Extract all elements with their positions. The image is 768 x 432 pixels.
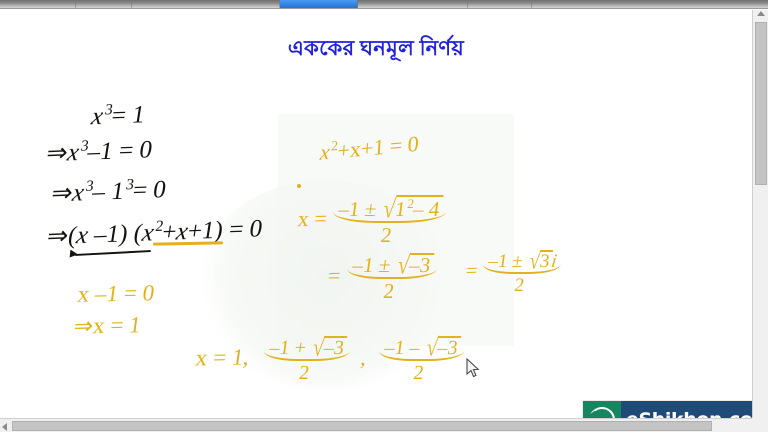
vertical-scrollbar[interactable] <box>752 10 768 418</box>
equation-imaginary-form: = –1 ± √3i 2 <box>466 250 560 295</box>
toolbar-group-file[interactable] <box>0 0 76 8</box>
eshikhon-e-icon <box>583 401 621 418</box>
page-title: এককের ঘনমূল নির্ণয় <box>0 32 752 67</box>
underline-factor-x-minus-1 <box>75 250 151 256</box>
equation-linear-factor-zero: x –1 = 0 <box>78 282 154 305</box>
horizontal-scroll-thumb[interactable] <box>12 421 712 431</box>
equation-quadratic-formula: x = –1 ± √12– 4 2 <box>298 195 445 246</box>
eshikhon-logo: eShikhon.com eShikhon.com <box>583 401 752 418</box>
scrollbar-corner <box>752 418 768 432</box>
equation-x-cubed-minus-one-cubed: ⇒x3– 13= 0 <box>52 178 166 204</box>
screen-recording-frame: এককের ঘনমূল নির্ণয় x3= 1 ⇒x3–1 = 0 ⇒x3–… <box>0 0 768 432</box>
scroll-up-arrow-icon[interactable] <box>757 11 765 16</box>
toolbar-group-view[interactable] <box>358 0 468 8</box>
toolbar-group-colors[interactable] <box>468 0 532 8</box>
mouse-cursor-icon <box>466 358 480 378</box>
equation-factored-form: ⇒(x –1) (x2+x+1) = 0 <box>48 219 262 245</box>
toolbar-active-tool[interactable] <box>280 0 358 8</box>
eshikhon-brand-text: eShikhon.com <box>621 401 752 418</box>
toolbar-group-extra[interactable] <box>532 0 768 8</box>
vertical-scroll-thumb[interactable] <box>755 22 767 185</box>
toolbar-group-tools[interactable] <box>132 0 280 8</box>
scroll-left-arrow-icon[interactable] <box>2 423 7 431</box>
app-toolbar[interactable] <box>0 0 768 9</box>
equation-x-cubed-minus-one: ⇒x3–1 = 0 <box>47 138 152 164</box>
ink-dot-mark <box>297 184 301 188</box>
whiteboard-canvas[interactable]: এককের ঘনমূল নির্ণয় x3= 1 ⇒x3–1 = 0 ⇒x3–… <box>0 10 752 418</box>
equation-discriminant-negative-three: = –1 ± √–3 2 <box>328 253 435 302</box>
final-answer-line: x = 1, –1 + √–3 2 , –1 – √–3 2 <box>196 336 462 383</box>
arrow-marker-factor <box>70 250 79 259</box>
toolbar-group-edit[interactable] <box>76 0 132 8</box>
equation-x-cubed-equals-one: x3= 1 <box>92 102 145 128</box>
horizontal-scrollbar[interactable] <box>0 418 752 432</box>
equation-quadratic-factor: x2+x+1 = 0 <box>319 133 419 163</box>
equation-root-x-equals-one: ⇒x = 1 <box>74 314 141 337</box>
